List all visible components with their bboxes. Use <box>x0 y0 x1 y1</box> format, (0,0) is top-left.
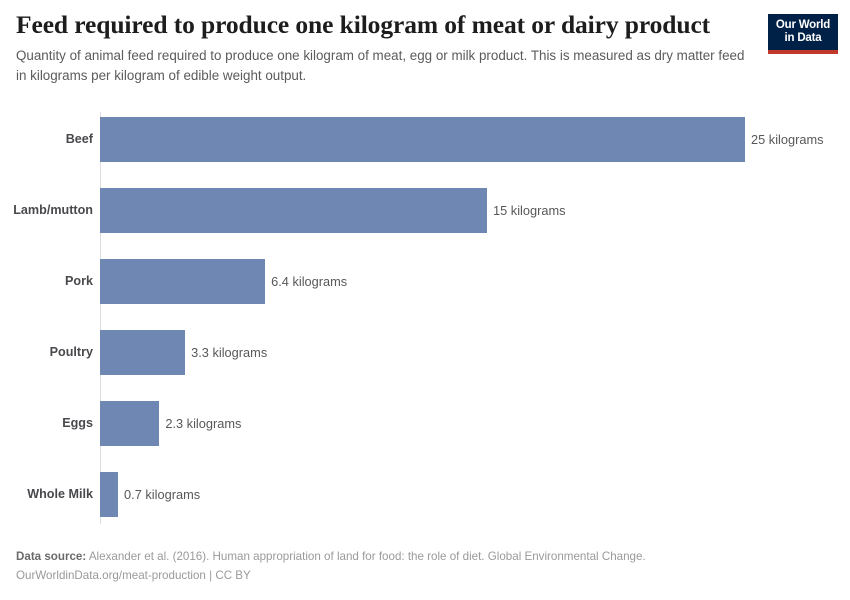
chart-footer: Data source: Alexander et al. (2016). Hu… <box>16 547 816 585</box>
bar-category-label: Poultry <box>0 330 93 375</box>
bar[interactable] <box>100 117 745 162</box>
chart-header: Feed required to produce one kilogram of… <box>16 10 756 85</box>
data-source-line: Data source: Alexander et al. (2016). Hu… <box>16 547 816 566</box>
logo-line-2: in Data <box>770 32 836 45</box>
chart-title: Feed required to produce one kilogram of… <box>16 10 756 40</box>
bar-category-label: Whole Milk <box>0 472 93 517</box>
bar-row: Lamb/mutton15 kilograms <box>0 188 850 233</box>
bar-category-label: Lamb/mutton <box>0 188 93 233</box>
bar-value-label: 2.3 kilograms <box>159 401 241 446</box>
bar-category-label: Beef <box>0 117 93 162</box>
bar-value-label: 3.3 kilograms <box>185 330 267 375</box>
bar[interactable] <box>100 188 487 233</box>
our-world-in-data-logo[interactable]: Our World in Data <box>768 14 838 54</box>
attribution-link[interactable]: OurWorldinData.org/meat-production | CC … <box>16 566 816 585</box>
bar-value-label: 0.7 kilograms <box>118 472 200 517</box>
plot-area: Beef25 kilogramsLamb/mutton15 kilogramsP… <box>0 104 850 524</box>
bar[interactable] <box>100 401 159 446</box>
bar[interactable] <box>100 259 265 304</box>
bar-category-label: Pork <box>0 259 93 304</box>
logo-line-1: Our World <box>770 19 836 32</box>
bar-category-label: Eggs <box>0 401 93 446</box>
bar-row: Whole Milk0.7 kilograms <box>0 472 850 517</box>
bar-value-label: 25 kilograms <box>745 117 824 162</box>
bar-row: Eggs2.3 kilograms <box>0 401 850 446</box>
bar[interactable] <box>100 472 118 517</box>
y-axis-line <box>100 112 101 524</box>
bar[interactable] <box>100 330 185 375</box>
bar-row: Beef25 kilograms <box>0 117 850 162</box>
data-source-label: Data source: <box>16 550 86 563</box>
bar-row: Poultry3.3 kilograms <box>0 330 850 375</box>
chart-container: Feed required to produce one kilogram of… <box>0 0 850 600</box>
data-source-text: Alexander et al. (2016). Human appropria… <box>86 550 645 563</box>
bar-row: Pork6.4 kilograms <box>0 259 850 304</box>
bar-value-label: 6.4 kilograms <box>265 259 347 304</box>
chart-subtitle: Quantity of animal feed required to prod… <box>16 46 746 85</box>
bar-value-label: 15 kilograms <box>487 188 566 233</box>
